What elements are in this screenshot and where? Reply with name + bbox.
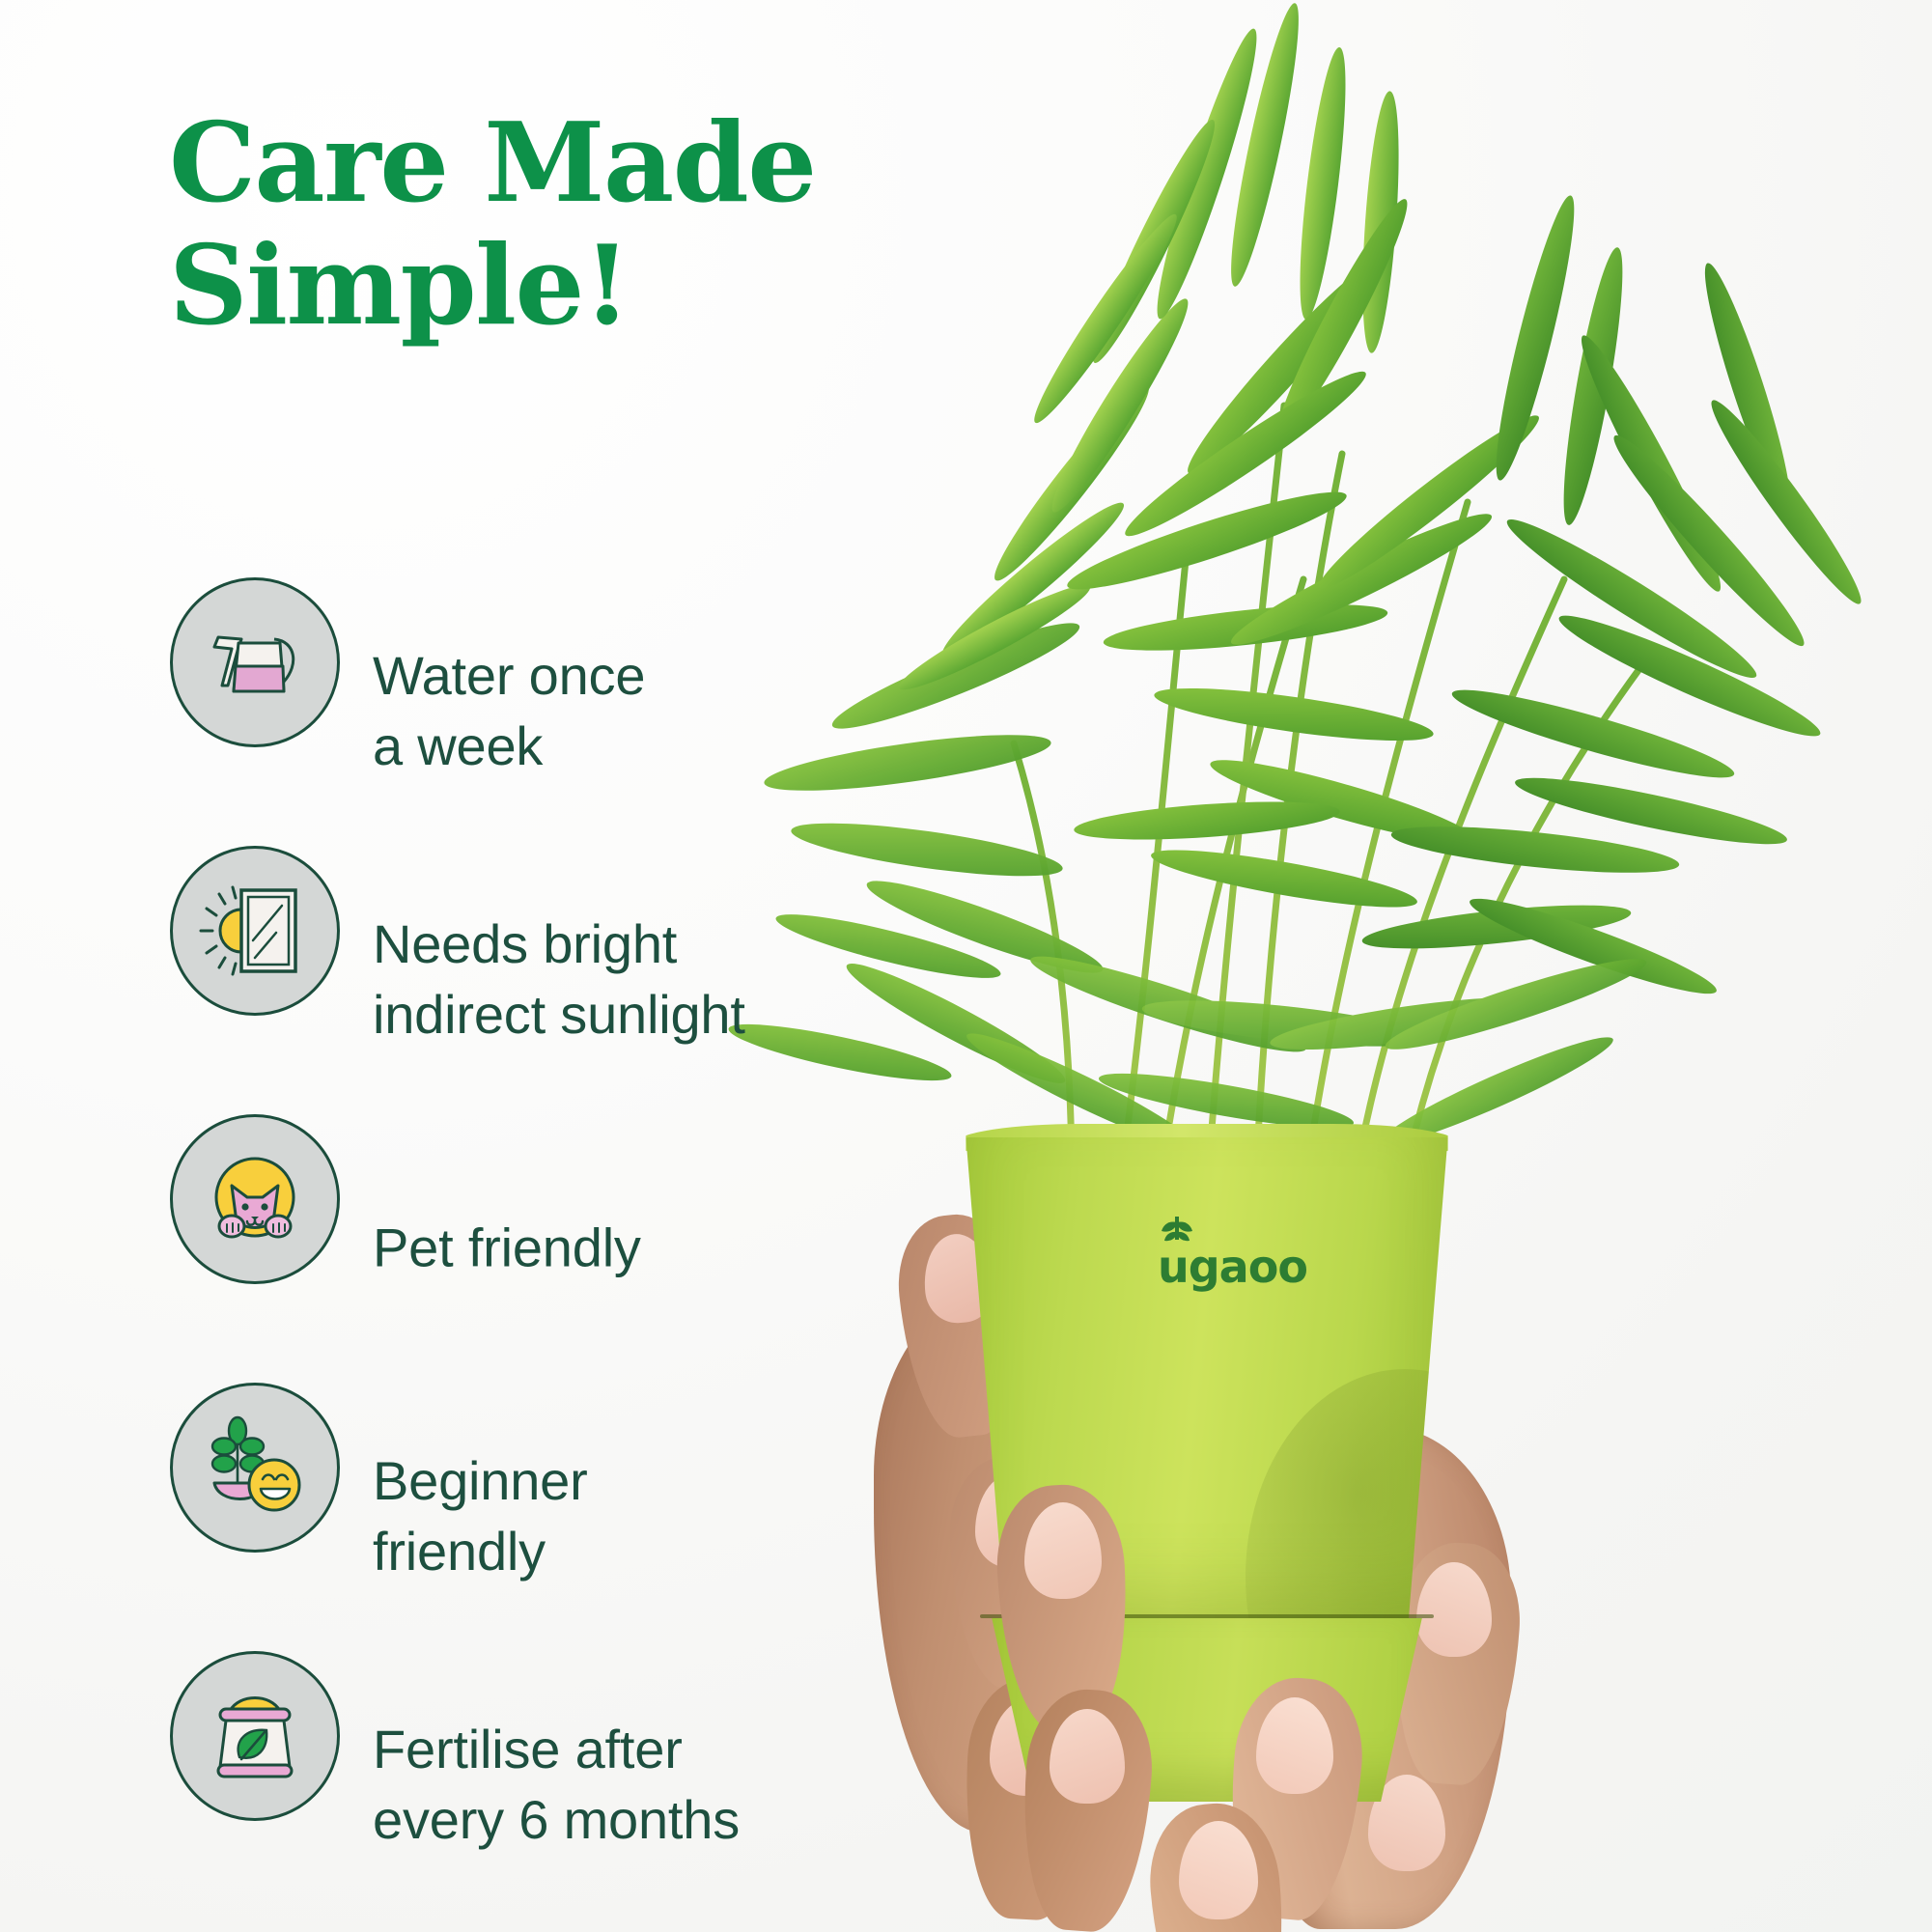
fertiliser-bag-badge bbox=[170, 1651, 340, 1821]
sprout-icon bbox=[1162, 1217, 1192, 1241]
care-infographic-canvas: ugaoo Care Made Simple! Water once a wee… bbox=[0, 0, 1932, 1932]
ugaoo-wordmark: ugaoo bbox=[1158, 1241, 1307, 1293]
beginner-friendly-badge bbox=[170, 1383, 340, 1553]
sun-window-icon bbox=[199, 875, 311, 987]
pot-and-hands: ugaoo bbox=[835, 1137, 1463, 1929]
sun-window-badge bbox=[170, 846, 340, 1016]
care-item-label: Needs bright indirect sunlight bbox=[373, 910, 894, 1050]
watering-can-icon bbox=[199, 606, 311, 718]
fertiliser-bag-icon bbox=[199, 1680, 311, 1792]
title-line-2: Simple! bbox=[169, 225, 903, 348]
care-item-beginner: Beginner friendly bbox=[170, 1383, 904, 1651]
care-item-light: Needs bright indirect sunlight bbox=[170, 846, 904, 1114]
care-instructions-list: Water once a week bbox=[170, 577, 904, 1919]
cat-face-badge bbox=[170, 1114, 340, 1284]
care-item-water: Water once a week bbox=[170, 577, 904, 846]
page-title: Care Made Simple! bbox=[169, 102, 903, 347]
watering-can-badge bbox=[170, 577, 340, 747]
cat-face-icon bbox=[199, 1143, 311, 1255]
potted-plant-smiley-icon bbox=[199, 1412, 311, 1524]
care-item-fertilise: Fertilise after every 6 months bbox=[170, 1651, 904, 1919]
care-item-label: Pet friendly bbox=[373, 1214, 894, 1284]
care-item-label: Water once a week bbox=[373, 641, 894, 782]
care-item-label: Beginner friendly bbox=[373, 1446, 894, 1587]
ugaoo-logo: ugaoo bbox=[1156, 1213, 1349, 1294]
care-item-pet: Pet friendly bbox=[170, 1114, 904, 1383]
title-line-1: Care Made bbox=[169, 98, 816, 227]
care-item-label: Fertilise after every 6 months bbox=[373, 1715, 894, 1856]
